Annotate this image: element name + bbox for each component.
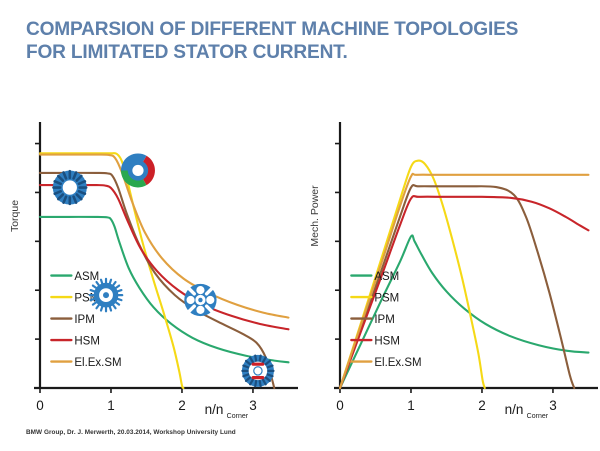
- charts-container: 0123Torquen/nCornerASMPSMIPMHSMEl.Ex.SM …: [0, 110, 600, 430]
- elexsm-rotor-icon: [242, 355, 274, 387]
- x-tick-label: 0: [336, 398, 344, 413]
- legend-label-asm: ASM: [74, 271, 99, 283]
- icon-bar: [255, 381, 256, 387]
- legend-label-asm: ASM: [374, 271, 399, 283]
- hsm-rotor-icon: [184, 284, 216, 316]
- torque-chart-svg: 0123Torquen/nCornerASMPSMIPMHSMEl.Ex.SM: [0, 110, 300, 430]
- icon-tooth: [93, 286, 97, 289]
- x-tick-label: 3: [549, 398, 557, 413]
- icon-pole-gap-0: [206, 296, 214, 304]
- x-tick-label: 0: [36, 398, 44, 413]
- legend-label-ipm: IPM: [74, 314, 94, 326]
- icon-bore: [132, 165, 143, 176]
- series-line-psm: [340, 161, 485, 388]
- x-axis-title-subscript: Corner: [227, 413, 249, 420]
- icon-bore: [103, 292, 109, 298]
- icon-bar: [260, 356, 261, 362]
- x-axis-title-subscript: Corner: [527, 413, 549, 420]
- x-tick-label: 2: [178, 398, 186, 413]
- legend-label-ipm: IPM: [374, 314, 394, 326]
- icon-coil-top: [252, 363, 265, 366]
- legend-label-hsm: HSM: [374, 335, 400, 347]
- icon-bore: [254, 367, 262, 375]
- icon-tooth: [115, 301, 119, 304]
- legend-label-elexsm: El.Ex.SM: [374, 357, 421, 369]
- page-title-line-1: COMPARSION OF DIFFERENT MACHINE TOPOLOGI…: [26, 18, 560, 41]
- y-axis-title: Mech. Power: [309, 185, 321, 247]
- x-tick-label: 1: [407, 398, 415, 413]
- y-axis-title: Torque: [9, 200, 21, 232]
- x-tick-label: 3: [249, 398, 257, 413]
- icon-pole-gap-2: [186, 296, 194, 304]
- icon-tooth: [115, 286, 119, 289]
- icon-bore: [198, 298, 202, 302]
- page-title-line-2: FOR LIMITATED STATOR CURRENT.: [26, 41, 560, 64]
- footer-credit: BMW Group, Dr. J. Merwerth, 20.03.2014, …: [26, 429, 236, 436]
- icon-bore: [63, 180, 77, 194]
- icon-tooth: [112, 304, 115, 308]
- icon-coil-bottom: [252, 376, 265, 379]
- torque-chart-panel: 0123Torquen/nCornerASMPSMIPMHSMEl.Ex.SM: [0, 110, 300, 430]
- legend-label-elexsm: El.Ex.SM: [74, 357, 121, 369]
- page-title: COMPARSION OF DIFFERENT MACHINE TOPOLOGI…: [26, 18, 571, 64]
- asm-rotor-icon: [53, 171, 87, 205]
- icon-tooth: [112, 282, 115, 286]
- power-chart-svg: 0123Mech. Powern/nCornerASMPSMIPMHSMEl.E…: [300, 110, 600, 430]
- icon-bar: [260, 381, 261, 387]
- legend-label-hsm: HSM: [74, 335, 100, 347]
- power-chart-panel: 0123Mech. Powern/nCornerASMPSMIPMHSMEl.E…: [300, 110, 600, 430]
- x-axis-title: n/n: [505, 402, 524, 417]
- ipm-rotor-icon: [90, 279, 122, 311]
- icon-pole-gap-3: [196, 286, 204, 294]
- legend-label-psm: PSM: [374, 292, 399, 304]
- psm-rotor-icon: [121, 153, 155, 187]
- x-axis-title: n/n: [205, 402, 224, 417]
- x-tick-label: 2: [478, 398, 486, 413]
- x-tick-label: 1: [107, 398, 115, 413]
- icon-tooth: [96, 304, 99, 308]
- icon-bar: [255, 356, 256, 362]
- icon-pole-gap-1: [196, 306, 204, 314]
- series-line-hsm: [40, 185, 288, 329]
